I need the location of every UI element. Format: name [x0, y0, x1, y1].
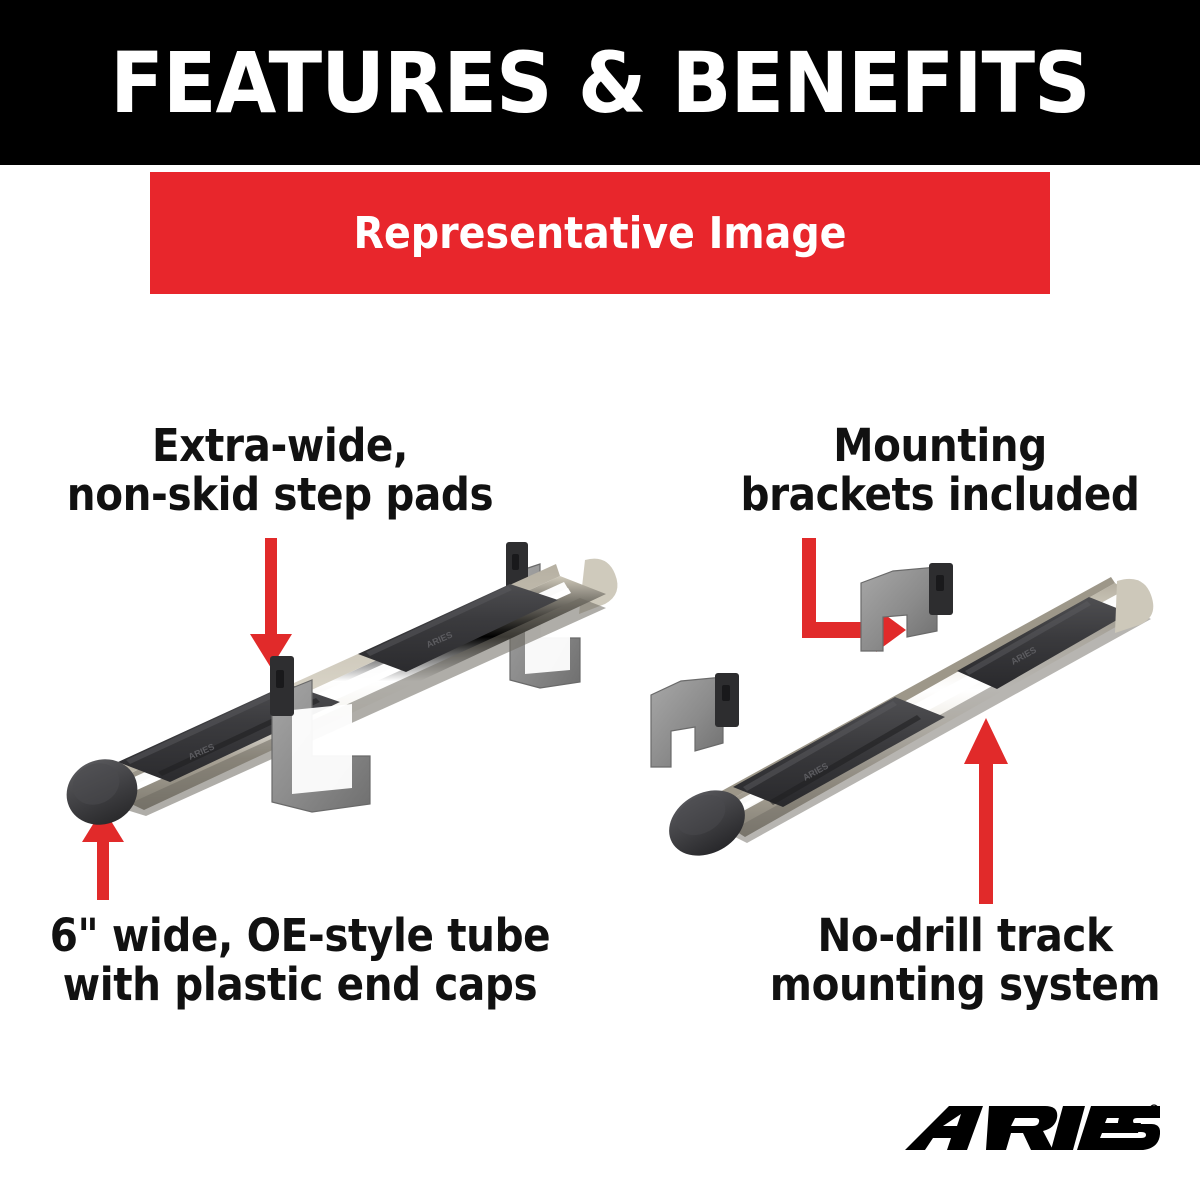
callout-label-step-pads: Extra-wide, non-skid step pads — [20, 422, 540, 519]
aries-logo: ® — [905, 1100, 1160, 1162]
tube-far-end-reverse — [1115, 579, 1153, 633]
representative-image-banner: Representative Image — [150, 172, 1050, 294]
product-image-nerf-bar-reverse: ARIES ARIES — [645, 555, 1185, 885]
registered-trademark-symbol: ® — [1152, 1107, 1157, 1114]
callout-label-tube-end-caps: 6" wide, OE-style tube with plastic end … — [15, 912, 585, 1009]
representative-image-label: Representative Image — [353, 208, 846, 259]
page-title: FEATURES & BENEFITS — [110, 41, 1089, 125]
product-image-nerf-bar-three-quarter: ARIES ARIES — [40, 520, 660, 850]
detached-bracket-front — [651, 673, 739, 767]
header-bar: FEATURES & BENEFITS — [0, 0, 1200, 165]
infographic-page: FEATURES & BENEFITS Representative Image… — [0, 0, 1200, 1200]
callout-label-mounting-brackets: Mounting brackets included — [700, 422, 1180, 519]
callout-label-track-mount: No-drill track mounting system — [735, 912, 1195, 1009]
detached-bracket-rear — [861, 563, 953, 651]
